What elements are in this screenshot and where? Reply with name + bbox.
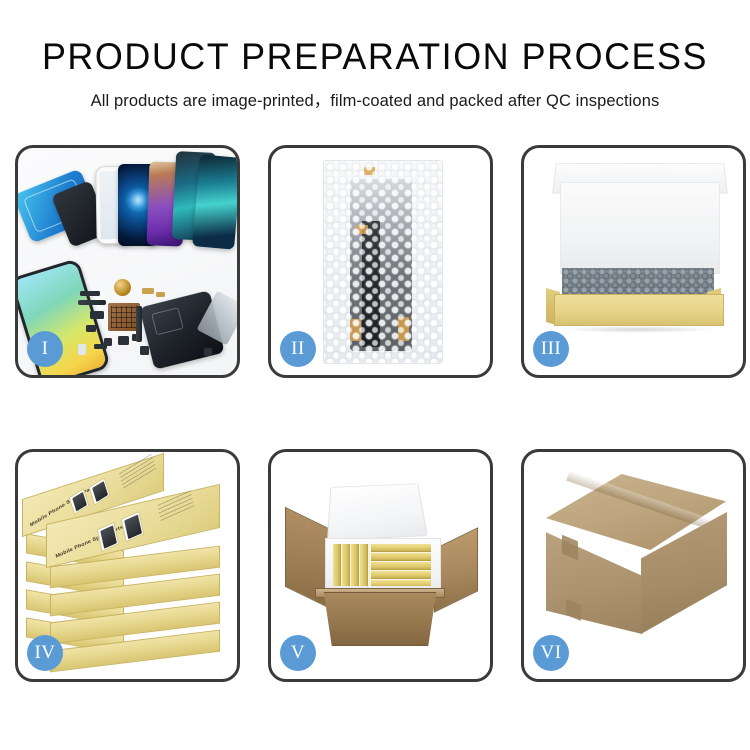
process-step-grid: I II III <box>15 145 741 682</box>
yellow-box-layer-graphic-2 <box>371 553 431 561</box>
flex-cable-graphic-1 <box>136 306 142 342</box>
tape-graphic-4 <box>398 317 409 341</box>
chip-graphic-1 <box>80 291 100 296</box>
process-step-3: III <box>521 145 746 378</box>
chip-graphic-12 <box>204 348 212 356</box>
chip-graphic-5 <box>86 325 96 332</box>
chip-graphic-11 <box>140 346 149 355</box>
chip-graphic-3 <box>156 292 165 297</box>
yellow-box-stack-graphic-4 <box>360 544 368 586</box>
step-badge-2: II <box>280 331 316 367</box>
box-window-graphic-2 <box>88 477 110 505</box>
carton-left-face-graphic <box>546 528 642 634</box>
chip-graphic-2 <box>142 288 154 294</box>
yellow-box-layer-graphic-1 <box>371 544 431 552</box>
step-badge-1: I <box>27 331 63 367</box>
page-subtitle: All products are image-printed，film-coat… <box>0 87 750 111</box>
foam-sheet-graphic <box>560 182 720 274</box>
chip-graphic-10 <box>78 344 86 355</box>
bubble-bag-graphic <box>323 160 443 364</box>
tape-graphic-3 <box>350 319 361 341</box>
box-front-panel-graphic <box>554 294 724 326</box>
yellow-box-stack-graphic-2 <box>342 544 350 586</box>
yellow-box-layer-graphic-4 <box>371 571 431 579</box>
speaker-component-graphic <box>114 279 131 296</box>
styrofoam-lid-graphic <box>327 483 428 540</box>
page-title: PRODUCT PREPARATION PROCESS <box>11 36 739 78</box>
yellow-box-stack-graphic-1 <box>333 544 341 586</box>
wrapped-flex-strip-graphic <box>362 221 380 347</box>
step-badge-3: III <box>533 331 569 367</box>
flex-cable-graphic-2 <box>78 300 106 305</box>
process-step-5: V <box>268 449 493 682</box>
yellow-box-layer-graphic-5 <box>371 580 431 586</box>
process-step-1: I <box>15 145 240 378</box>
box-print-lines-rear <box>119 454 157 491</box>
yellow-box-layer-graphic-3 <box>371 562 431 570</box>
process-step-2: II <box>268 145 493 378</box>
step-badge-4: IV <box>27 635 63 671</box>
yellow-box-stack-graphic-3 <box>351 544 359 586</box>
box-shadow-graphic <box>560 326 716 333</box>
chip-graphic-9 <box>94 344 107 349</box>
tape-graphic-2 <box>356 225 368 234</box>
step-badge-6: VI <box>533 635 569 671</box>
carton-body-graphic <box>313 592 447 646</box>
box-print-lines-front <box>157 490 194 523</box>
chip-graphic-4 <box>90 311 104 319</box>
chip-graphic-7 <box>118 336 129 345</box>
box-window-graphic-4 <box>121 511 145 542</box>
step-badge-5: V <box>280 635 316 671</box>
tape-graphic-1 <box>364 167 375 175</box>
teal-screen-phone-graphic-2 <box>192 154 237 249</box>
process-step-4: Mobile Phone Spare Parts Mobile Phone Sp… <box>15 449 240 682</box>
page-header: PRODUCT PREPARATION PROCESS All products… <box>0 0 750 111</box>
boxes-inside-foam-graphic <box>333 544 431 586</box>
process-step-6: VI <box>521 449 746 682</box>
